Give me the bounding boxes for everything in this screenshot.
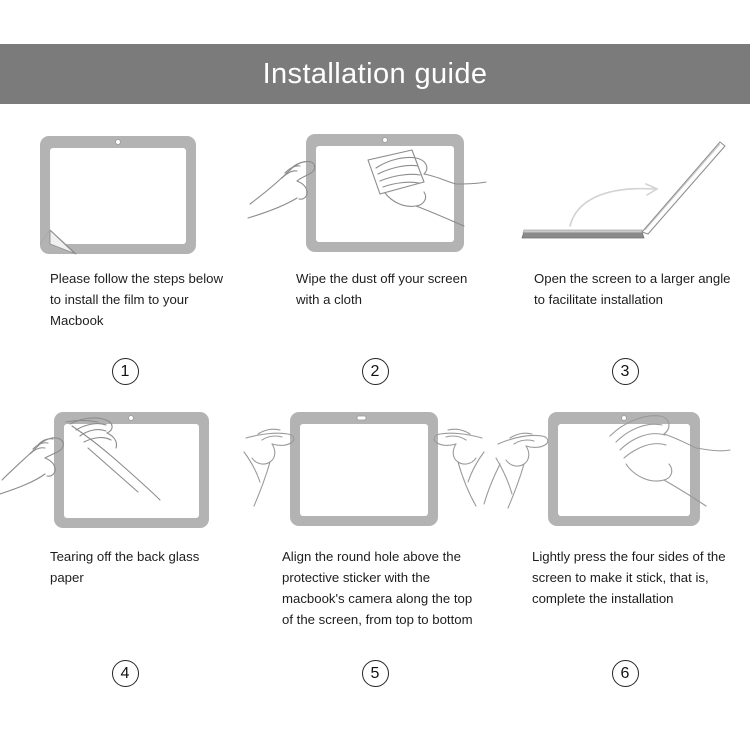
step-number-badge: 6 xyxy=(612,660,639,687)
step-3-caption: Open the screen to a larger angle to fac… xyxy=(514,268,736,310)
step-panel-2: Wipe the dust off your screen with a clo… xyxy=(250,126,500,408)
step-5-caption: Align the round hole above the protectiv… xyxy=(264,546,486,630)
step-1-illustration xyxy=(14,126,236,258)
step-2-caption: Wipe the dust off your screen with a clo… xyxy=(264,268,486,310)
step-number-badge: 1 xyxy=(112,358,139,385)
step-1-number-wrap: 1 xyxy=(0,358,250,385)
installation-guide-page: Installation guide xyxy=(0,0,750,750)
step-2-illustration xyxy=(264,126,486,258)
tablet-frame-icon xyxy=(40,136,196,254)
step-panel-4: Tearing off the back glass paper 4 xyxy=(0,408,250,690)
step-4-caption: Tearing off the back glass paper xyxy=(14,546,236,588)
step-5-illustration xyxy=(264,408,486,536)
left-hand-icon xyxy=(244,429,294,506)
step-2-number-wrap: 2 xyxy=(250,358,500,385)
tablet-frame-icon xyxy=(290,412,438,526)
step-panel-3: Open the screen to a larger angle to fac… xyxy=(500,126,750,408)
step-1-caption: Please follow the steps below to install… xyxy=(14,268,236,331)
step-6-caption: Lightly press the four sides of the scre… xyxy=(514,546,736,609)
step-panel-6: Lightly press the four sides of the scre… xyxy=(500,408,750,690)
steps-grid: Please follow the steps below to install… xyxy=(0,126,750,690)
header-banner: Installation guide xyxy=(0,44,750,104)
step-6-illustration xyxy=(514,408,736,536)
step-3-illustration xyxy=(514,126,736,258)
step-panel-5: Align the round hole above the protectiv… xyxy=(250,408,500,690)
left-hand-icon xyxy=(0,438,63,494)
step-4-illustration xyxy=(14,408,236,536)
page-title: Installation guide xyxy=(263,60,488,89)
step-number-badge: 4 xyxy=(112,660,139,687)
step-3-number-wrap: 3 xyxy=(500,358,750,385)
left-hand-icon xyxy=(496,433,548,508)
tablet-frame-icon xyxy=(548,412,700,526)
right-hand-icon xyxy=(434,429,500,506)
step-6-number-wrap: 6 xyxy=(500,660,750,687)
step-number-badge: 3 xyxy=(612,358,639,385)
opening-arrow-icon xyxy=(570,184,657,226)
step-5-number-wrap: 5 xyxy=(250,660,500,687)
step-panel-1: Please follow the steps below to install… xyxy=(0,126,250,408)
step-number-badge: 5 xyxy=(362,660,389,687)
step-number-badge: 2 xyxy=(362,358,389,385)
left-hand-icon xyxy=(248,161,315,218)
step-4-number-wrap: 4 xyxy=(0,660,250,687)
